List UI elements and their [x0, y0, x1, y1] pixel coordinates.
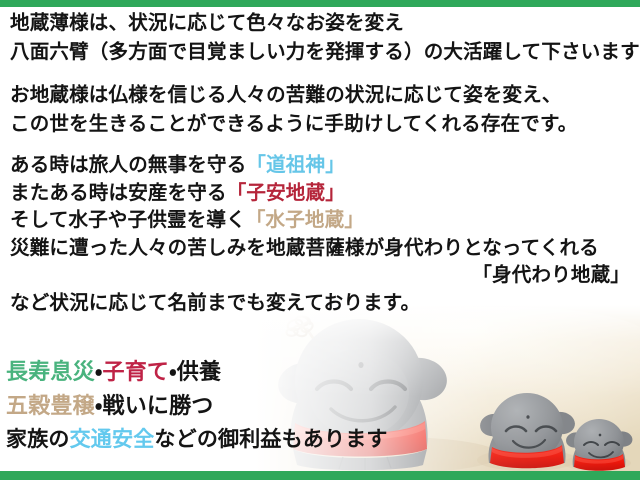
jizo-name-3-mizuko: 「水子地蔵」 — [246, 210, 364, 231]
jizo-name-1-dosojin: 「道祖神」 — [246, 155, 345, 176]
benefit-kosodate: 子育て — [103, 359, 170, 384]
jizo-name-2-koyasu: 「子安地蔵」 — [227, 183, 345, 204]
explanation-line-2: この世を生きることができるように手助けしてくれる存在です。 — [10, 115, 577, 135]
intro-line-2: 八面六臂（多方面で目覚ましい力を発揮する）の大活躍して下さいます — [10, 43, 640, 63]
jizo-name-2-prefix: またある時は安産を守る — [10, 183, 227, 204]
explanation-line-1: お地蔵様は仏様を信じる人々の苦難の状況に応じて姿を変え、 — [10, 86, 577, 106]
benefit-kuyo: 供養 — [177, 359, 221, 384]
page-root: 地蔵薄様は、状況に応じて色々なお姿を変え 八面六臂（多方面で目覚ましい力を発揮す… — [0, 0, 640, 480]
benefit-suffix: などの御利益もあります — [154, 427, 387, 451]
benefit-tatakai-ni-katsu: 戦いに勝つ — [103, 393, 214, 418]
jizo-name-3-prefix: そして水子や子供霊を導く — [10, 210, 246, 231]
benefit-kotsu-anzen: 交通安全 — [70, 427, 155, 451]
jizo-name-line-4: 災難に遭った人々の苦しみを地蔵菩薩様が身代わりとなってくれる — [10, 239, 630, 259]
benefits-row-2: 五穀豊穣・戦いに勝つ — [6, 395, 388, 417]
benefits-paragraph: 長寿息災・子育て・供養 五穀豊穣・戦いに勝つ 家族の交通安全などの御利益もありま… — [6, 361, 388, 462]
jizo-name-line-6: など状況に応じて名前までも変えております。 — [10, 294, 630, 314]
jizo-name-line-5: 「身代わり地蔵」 — [10, 266, 630, 286]
intro-paragraph: 地蔵薄様は、状況に応じて色々なお姿を変え 八面六臂（多方面で目覚ましい力を発揮す… — [10, 14, 640, 71]
intro-line-1: 地蔵薄様は、状況に応じて色々なお姿を変え — [10, 14, 640, 34]
benefits-row-3: 家族の交通安全などの御利益もあります — [6, 429, 388, 450]
benefit-separator-2: ・ — [169, 359, 177, 384]
benefit-separator-3: ・ — [95, 393, 103, 418]
benefit-separator-1: ・ — [95, 359, 103, 384]
explanation-paragraph: お地蔵様は仏様を信じる人々の苦難の状況に応じて姿を変え、 この世を生きることがで… — [10, 86, 577, 143]
jizo-names-paragraph: ある時は旅人の無事を守る「道祖神」 またある時は安産を守る「子安地蔵」 そして水… — [10, 156, 630, 321]
benefits-row-1: 長寿息災・子育て・供養 — [6, 361, 388, 383]
benefit-gokoku-hojo: 五穀豊穣 — [6, 393, 95, 418]
benefit-family-prefix: 家族の — [6, 427, 70, 451]
jizo-name-line-2: またある時は安産を守る「子安地蔵」 — [10, 184, 630, 204]
jizo-name-5-migawari: 「身代わり地蔵」 — [472, 265, 630, 286]
top-green-border — [0, 0, 640, 7]
benefit-choju-sokusai: 長寿息災 — [6, 359, 95, 384]
jizo-name-1-prefix: ある時は旅人の無事を守る — [10, 155, 246, 176]
bottom-green-border — [0, 471, 640, 480]
jizo-name-line-1: ある時は旅人の無事を守る「道祖神」 — [10, 156, 630, 176]
jizo-name-line-3: そして水子や子供霊を導く「水子地蔵」 — [10, 211, 630, 231]
